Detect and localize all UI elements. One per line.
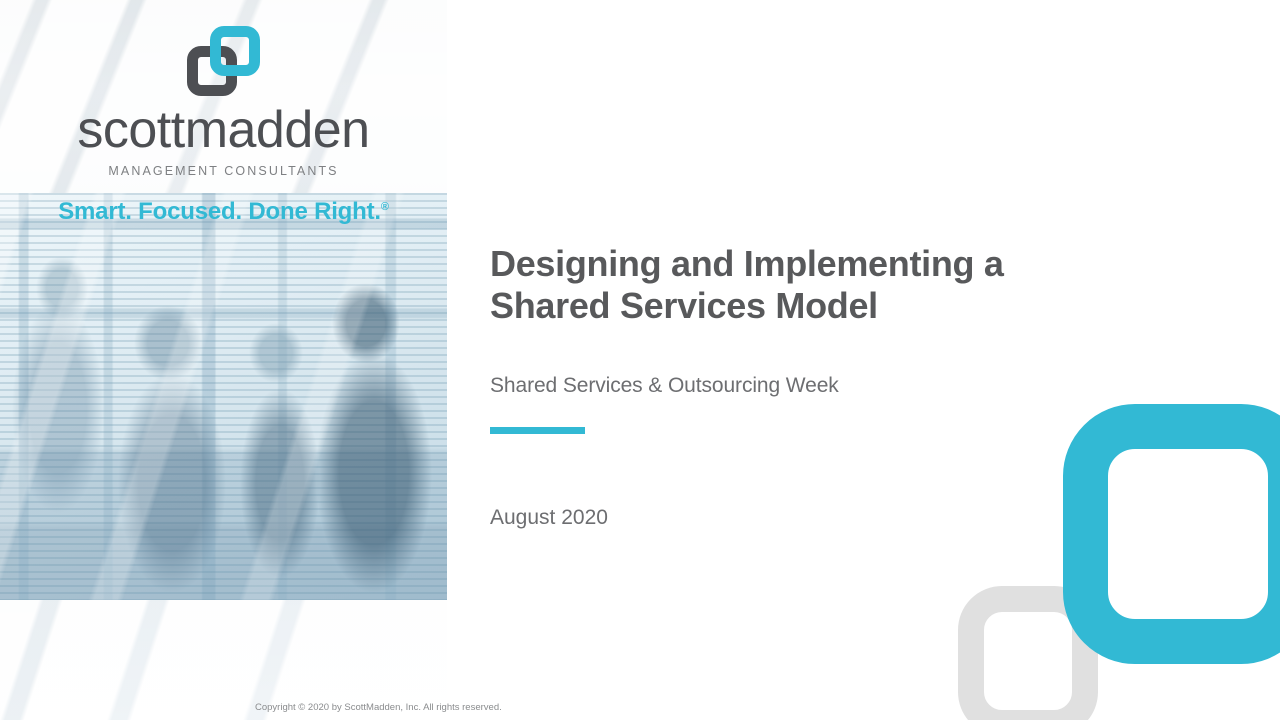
rounded-square-outline-cyan-icon <box>1063 404 1280 664</box>
slide-subtitle: Shared Services & Outsourcing Week <box>490 374 839 398</box>
copyright-notice: Copyright © 2020 by ScottMadden, Inc. Al… <box>255 702 502 713</box>
scottmadden-overlapping-squares-logo <box>187 26 261 98</box>
brand-wordmark: scottmadden <box>0 104 447 156</box>
logo-cyan-square-icon <box>210 26 260 76</box>
slide-title: Designing and Implementing a Shared Serv… <box>490 243 1110 328</box>
brand-logo-block: scottmadden MANAGEMENT CONSULTANTS Smart… <box>0 0 447 226</box>
registered-trademark-icon: ® <box>381 201 389 213</box>
corner-decoration <box>950 390 1280 720</box>
brand-tagline-text: Smart. Focused. Done Right. <box>58 198 381 225</box>
brand-descriptor: MANAGEMENT CONSULTANTS <box>0 164 447 178</box>
office-window-business-people-photo <box>0 193 447 602</box>
brand-tagline: Smart. Focused. Done Right.® <box>0 198 447 226</box>
accent-rule-divider <box>490 427 585 434</box>
slide-date: August 2020 <box>490 506 608 530</box>
